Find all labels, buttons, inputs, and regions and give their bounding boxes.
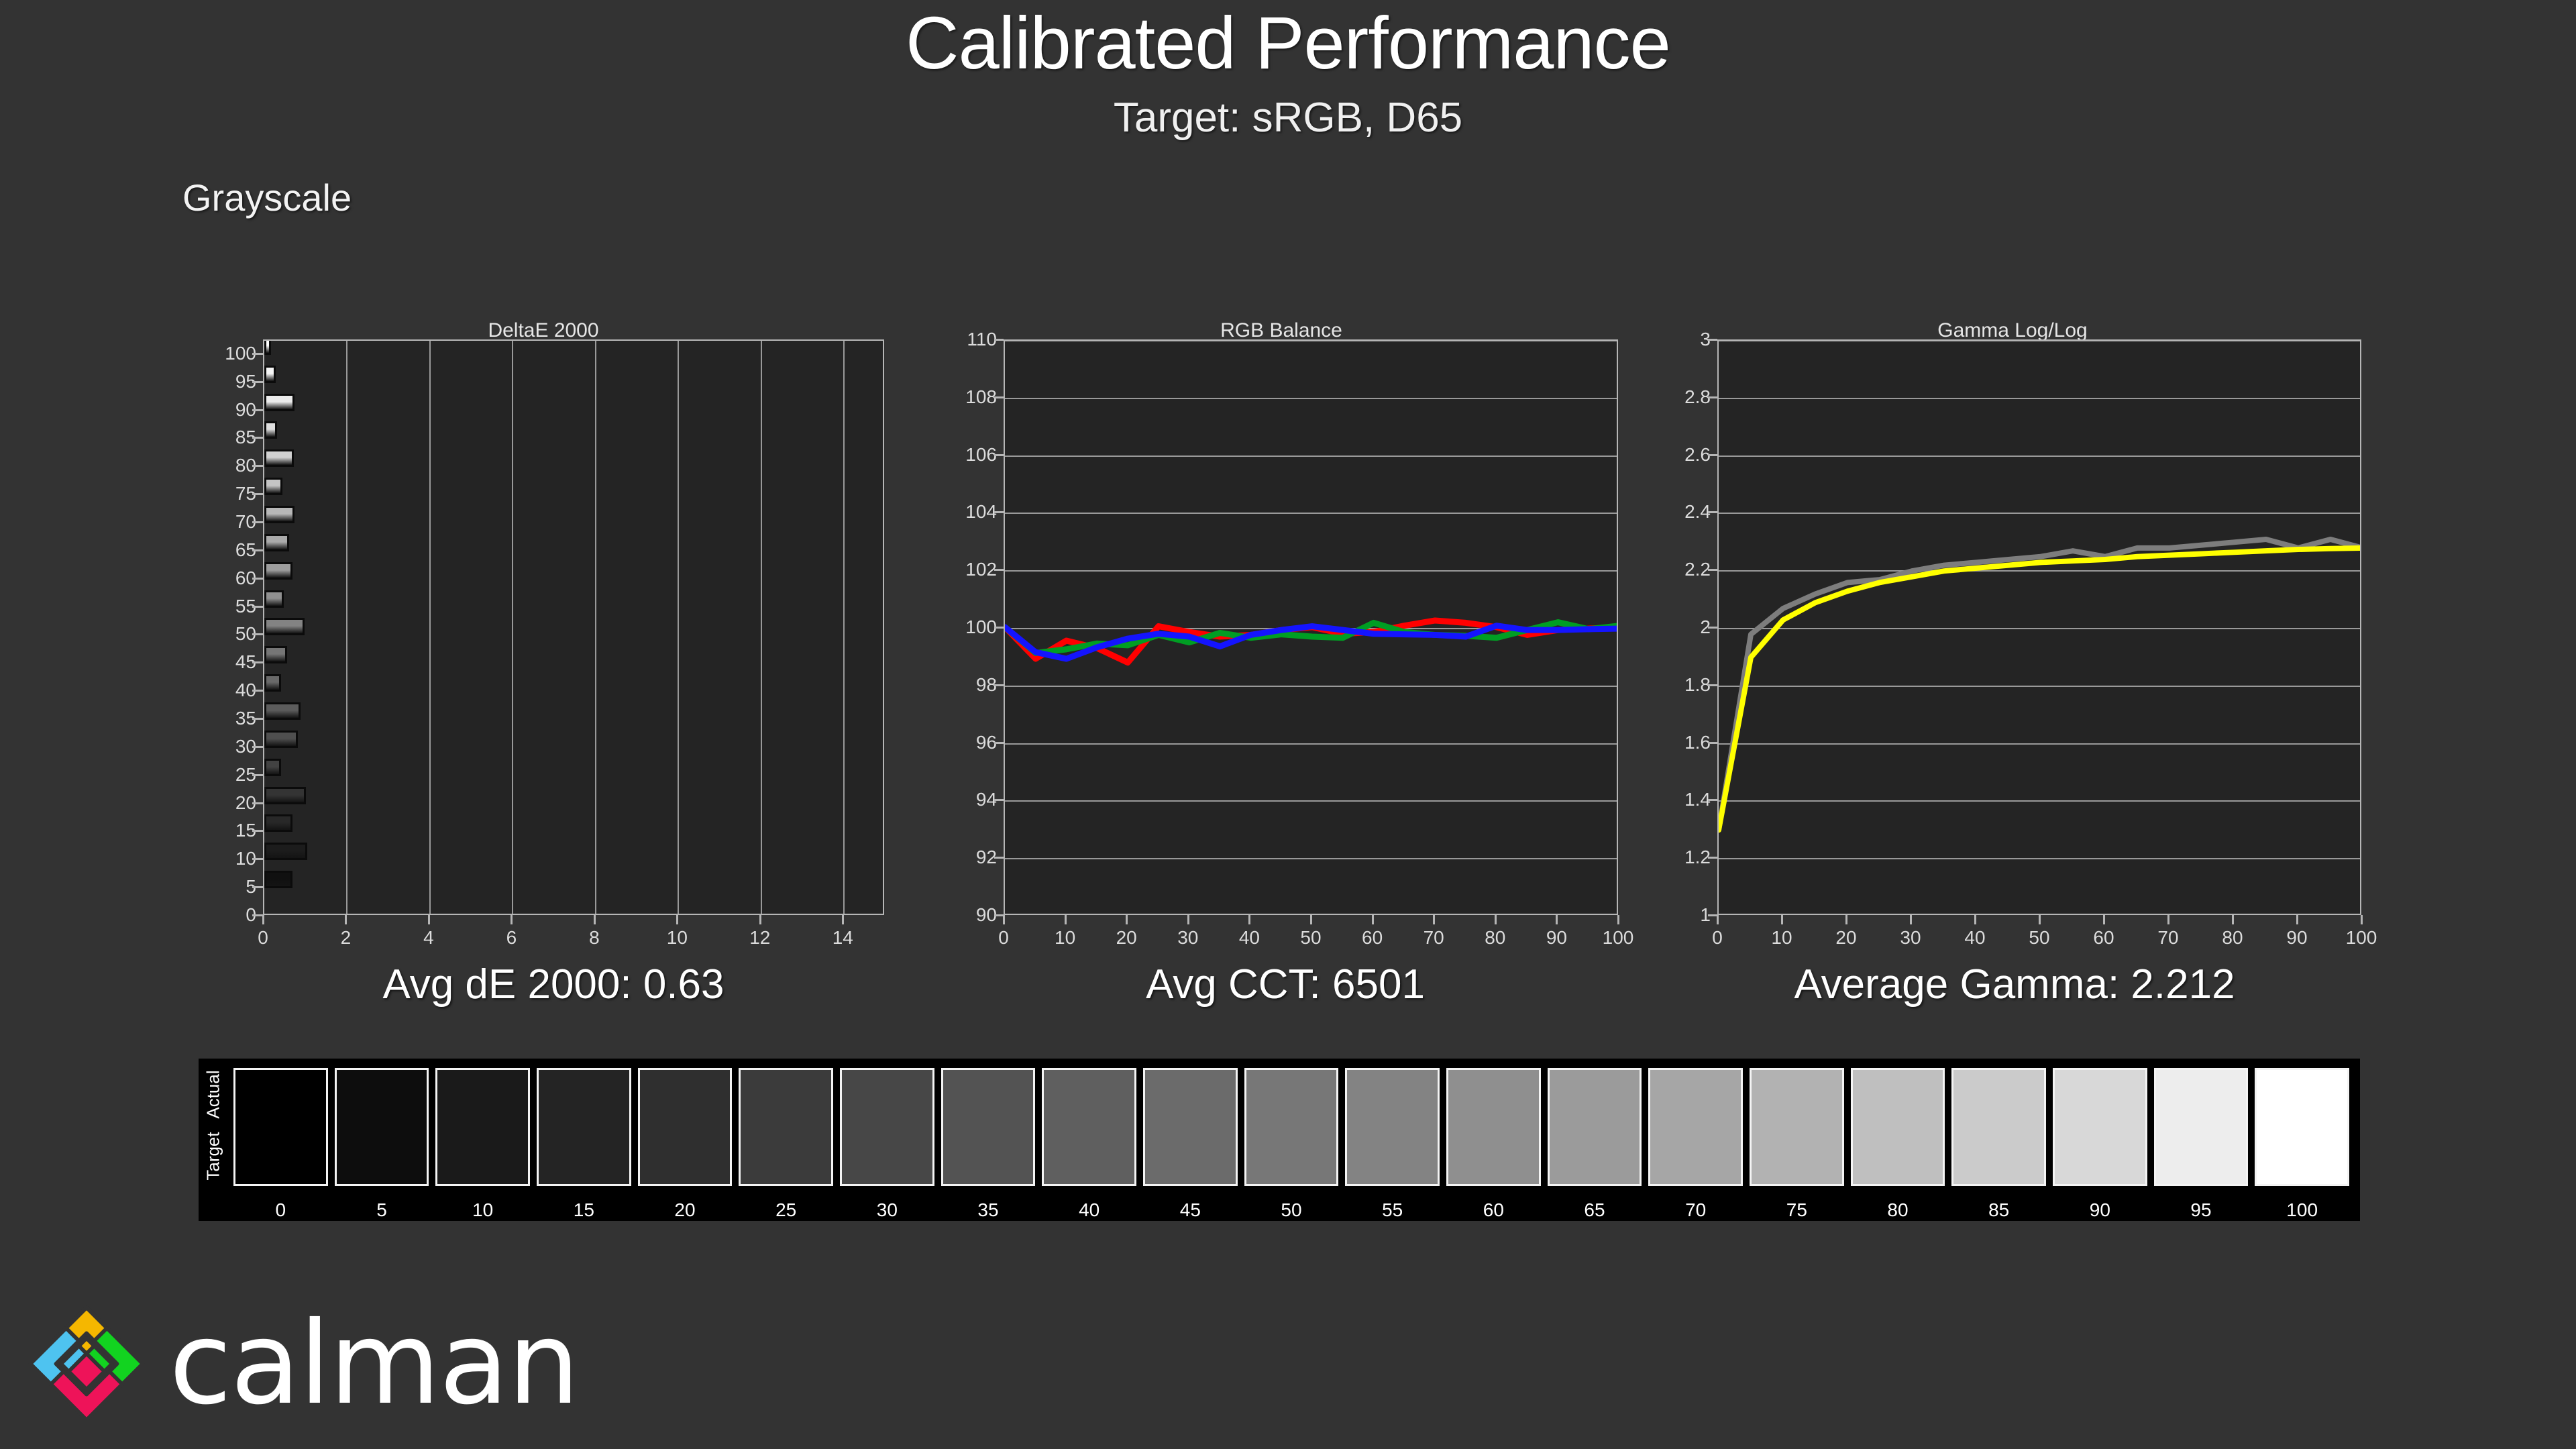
deltae-y-tick-label: 25 xyxy=(207,764,256,786)
deltae-bar xyxy=(264,478,282,495)
gamma-y-tick-label: 1.6 xyxy=(1662,732,1711,753)
swatch-target xyxy=(1448,1127,1539,1184)
rgb-x-tickmark xyxy=(1495,915,1497,924)
swatch-actual xyxy=(1650,1070,1741,1127)
swatch-label: 10 xyxy=(435,1199,530,1221)
calman-logo-mark xyxy=(23,1300,150,1428)
deltae-y-tick-label: 20 xyxy=(207,792,256,814)
gamma-y-tickmark xyxy=(1708,684,1717,686)
gamma-x-tick-label: 90 xyxy=(2286,927,2307,949)
deltae-y-tick-label: 55 xyxy=(207,596,256,617)
gridline-vertical xyxy=(595,341,596,914)
swatch-target xyxy=(235,1127,326,1184)
gamma-y-tick-label: 1.4 xyxy=(1662,789,1711,810)
gamma-y-tick-label: 2.4 xyxy=(1662,501,1711,523)
swatch-actual xyxy=(1044,1070,1134,1127)
deltae-bar xyxy=(264,534,289,551)
swatch-actual xyxy=(235,1070,326,1127)
strip-label-target: Target xyxy=(203,1123,224,1190)
swatch-label: 30 xyxy=(840,1199,934,1221)
rgb-x-tick-label: 60 xyxy=(1362,927,1383,949)
swatch-label: 75 xyxy=(1750,1199,1844,1221)
deltae-x-tickmark xyxy=(345,915,347,924)
deltae-y-tickmark xyxy=(252,493,263,495)
swatch-label: 90 xyxy=(2053,1199,2147,1221)
swatch-cell: 25 xyxy=(739,1068,833,1186)
deltae-bar xyxy=(264,814,292,832)
swatch-target xyxy=(539,1127,629,1184)
gamma-y-tickmark xyxy=(1708,339,1717,341)
deltae-x-tickmark xyxy=(676,915,678,924)
rgb-y-tick-label: 110 xyxy=(949,329,997,350)
rgb-x-tickmark xyxy=(1065,915,1067,924)
gamma-y-tick-label: 2.2 xyxy=(1662,559,1711,580)
rgb-x-tick-label: 90 xyxy=(1546,927,1567,949)
deltae-y-tickmark xyxy=(252,830,263,832)
gamma-x-tickmark xyxy=(1781,915,1783,924)
gamma-x-tickmark xyxy=(2039,915,2041,924)
swatch-cell: 95 xyxy=(2154,1068,2249,1186)
deltae-bar xyxy=(264,871,292,888)
gamma-y-tickmark xyxy=(1708,396,1717,398)
summary-row: Avg dE 2000: 0.63 Avg CCT: 6501 Average … xyxy=(0,961,2576,1021)
gamma-x-tickmark xyxy=(2103,915,2105,924)
rgb-x-tick-label: 0 xyxy=(998,927,1009,949)
gridline-vertical xyxy=(429,341,431,914)
swatch-cell: 40 xyxy=(1042,1068,1136,1186)
swatch-target xyxy=(1246,1127,1337,1184)
deltae-y-tick-label: 35 xyxy=(207,708,256,729)
swatch-target xyxy=(2257,1127,2347,1184)
swatch-target xyxy=(842,1127,932,1184)
gridline-vertical xyxy=(512,341,513,914)
swatch-label: 5 xyxy=(335,1199,429,1221)
rgb-x-tickmark xyxy=(1003,915,1005,924)
swatch-target xyxy=(1347,1127,1438,1184)
gridline-vertical xyxy=(843,341,845,914)
swatch-cell: 100 xyxy=(2255,1068,2349,1186)
deltae-x-tickmark xyxy=(594,915,596,924)
rgb-y-tickmark xyxy=(994,569,1004,571)
gamma-x-tick-label: 0 xyxy=(1712,927,1723,949)
swatch-target xyxy=(2055,1127,2145,1184)
deltae-y-tick-label: 70 xyxy=(207,511,256,533)
rgb-y-tickmark xyxy=(994,857,1004,859)
swatch-actual xyxy=(1550,1070,1640,1127)
deltae-x-tickmark xyxy=(428,915,430,924)
swatch-95 xyxy=(2154,1068,2249,1186)
rgb-y-tick-label: 104 xyxy=(949,501,997,523)
swatch-label: 20 xyxy=(638,1199,733,1221)
gamma-plot-area xyxy=(1717,339,2361,915)
swatch-target xyxy=(741,1127,831,1184)
rgb-y-tickmark xyxy=(994,914,1004,916)
gamma-x-tickmark xyxy=(2361,915,2363,924)
rgb-y-tick-label: 94 xyxy=(949,789,997,810)
swatch-actual xyxy=(539,1070,629,1127)
rgb-y-tick-label: 106 xyxy=(949,444,997,466)
deltae-y-tickmark xyxy=(252,886,263,888)
swatch-actual xyxy=(2156,1070,2247,1127)
deltae-y-tickmark xyxy=(252,465,263,467)
swatch-cell: 60 xyxy=(1446,1068,1541,1186)
deltae-bar xyxy=(264,787,306,804)
deltae-x-tick-label: 14 xyxy=(833,927,853,949)
deltae-y-tick-label: 80 xyxy=(207,455,256,476)
swatch-actual xyxy=(2257,1070,2347,1127)
gamma-y-tickmark xyxy=(1708,799,1717,801)
swatch-70 xyxy=(1648,1068,1743,1186)
deltae-plot-area xyxy=(263,339,884,915)
swatch-target xyxy=(1044,1127,1134,1184)
deltae-x-tickmark xyxy=(759,915,761,924)
deltae-y-tick-label: 10 xyxy=(207,848,256,869)
calman-wordmark: calman xyxy=(169,1307,578,1421)
swatch-cell: 65 xyxy=(1548,1068,1642,1186)
swatch-cell: 80 xyxy=(1851,1068,1945,1186)
swatch-5 xyxy=(335,1068,429,1186)
swatch-40 xyxy=(1042,1068,1136,1186)
rgb-y-tickmark xyxy=(994,627,1004,629)
swatch-target xyxy=(1953,1127,2044,1184)
swatch-cell: 85 xyxy=(1951,1068,2046,1186)
rgb-y-tickmark xyxy=(994,742,1004,744)
swatch-30 xyxy=(840,1068,934,1186)
rgb-x-tick-label: 80 xyxy=(1485,927,1505,949)
deltae-y-tick-label: 60 xyxy=(207,568,256,589)
swatch-target xyxy=(640,1127,731,1184)
swatch-label: 80 xyxy=(1851,1199,1945,1221)
gamma-x-tick-label: 50 xyxy=(2029,927,2049,949)
swatch-cell: 5 xyxy=(335,1068,429,1186)
deltae-bar xyxy=(264,506,294,523)
series-line-measured xyxy=(1719,539,2361,830)
swatch-15 xyxy=(537,1068,631,1186)
rgb-y-tick-label: 108 xyxy=(949,386,997,408)
swatch-actual xyxy=(1246,1070,1337,1127)
rgb-y-tickmark xyxy=(994,454,1004,456)
chart-panel-gamma: Gamma Log/Log11.21.41.61.822.22.42.62.83… xyxy=(1657,315,2368,959)
rgb-y-tickmark xyxy=(994,799,1004,801)
deltae-y-tick-label: 15 xyxy=(207,820,256,841)
rgb-x-tickmark xyxy=(1187,915,1189,924)
rgb-balance-curves xyxy=(1005,341,1618,915)
rgb-y-tick-label: 98 xyxy=(949,674,997,696)
swatch-actual xyxy=(1953,1070,2044,1127)
chart-title: DeltaE 2000 xyxy=(201,319,885,342)
gamma-y-tick-label: 2.6 xyxy=(1662,444,1711,466)
gamma-y-tickmark xyxy=(1708,511,1717,513)
swatch-50 xyxy=(1244,1068,1339,1186)
series-line-target xyxy=(1719,548,2361,830)
swatch-actual xyxy=(437,1070,528,1127)
deltae-bar xyxy=(264,421,277,439)
deltae-bar xyxy=(264,759,281,776)
charts-row: DeltaE 200005101520253035404550556065707… xyxy=(0,315,2576,959)
swatch-label: 70 xyxy=(1648,1199,1743,1221)
swatch-cell: 45 xyxy=(1143,1068,1238,1186)
gamma-y-tickmark xyxy=(1708,569,1717,571)
rgb-x-tick-label: 100 xyxy=(1603,927,1634,949)
swatch-80 xyxy=(1851,1068,1945,1186)
swatch-cell: 20 xyxy=(638,1068,733,1186)
summary-avg-cct: Avg CCT: 6501 xyxy=(1146,961,1425,1008)
page-subtitle: Target: sRGB, D65 xyxy=(0,95,2576,141)
deltae-x-tickmark xyxy=(262,915,264,924)
deltae-x-tick-label: 2 xyxy=(341,927,352,949)
swatch-actual xyxy=(1752,1070,1842,1127)
deltae-x-tickmark xyxy=(842,915,844,924)
swatch-cell: 0 xyxy=(233,1068,328,1186)
summary-avg-de: Avg dE 2000: 0.63 xyxy=(382,961,724,1008)
deltae-bar xyxy=(264,843,307,860)
swatch-cell: 55 xyxy=(1345,1068,1440,1186)
deltae-x-tick-label: 10 xyxy=(667,927,688,949)
swatch-actual xyxy=(842,1070,932,1127)
swatch-label: 25 xyxy=(739,1199,833,1221)
gamma-x-tickmark xyxy=(2167,915,2169,924)
swatch-actual xyxy=(1448,1070,1539,1127)
rgb-y-tickmark xyxy=(994,684,1004,686)
swatch-target xyxy=(1145,1127,1236,1184)
gridline-vertical xyxy=(678,341,679,914)
deltae-y-tick-label: 50 xyxy=(207,623,256,645)
deltae-x-tickmark xyxy=(511,915,513,924)
deltae-y-tickmark xyxy=(252,746,263,748)
rgb-x-tickmark xyxy=(1248,915,1250,924)
swatch-65 xyxy=(1548,1068,1642,1186)
swatch-actual xyxy=(337,1070,427,1127)
rgb-y-tick-label: 96 xyxy=(949,732,997,753)
gamma-x-tick-label: 20 xyxy=(1835,927,1856,949)
deltae-y-tickmark xyxy=(252,381,263,383)
gamma-x-tickmark xyxy=(1910,915,1912,924)
swatch-25 xyxy=(739,1068,833,1186)
swatch-target xyxy=(1752,1127,1842,1184)
gamma-y-tick-label: 3 xyxy=(1662,329,1711,350)
swatch-actual xyxy=(2055,1070,2145,1127)
swatch-actual xyxy=(741,1070,831,1127)
deltae-y-tickmark xyxy=(252,409,263,411)
rgb-x-tick-label: 20 xyxy=(1116,927,1137,949)
deltae-x-tick-label: 6 xyxy=(506,927,517,949)
gamma-x-tickmark xyxy=(1974,915,1976,924)
deltae-y-tickmark xyxy=(252,802,263,804)
swatch-target xyxy=(943,1127,1034,1184)
rgb-x-tick-label: 50 xyxy=(1300,927,1321,949)
rgb-y-tick-label: 102 xyxy=(949,559,997,580)
gridline-vertical xyxy=(761,341,762,914)
swatch-55 xyxy=(1345,1068,1440,1186)
gamma-y-tick-label: 1.8 xyxy=(1662,674,1711,696)
deltae-y-tick-label: 30 xyxy=(207,736,256,757)
deltae-bar xyxy=(264,731,298,748)
deltae-y-tick-label: 0 xyxy=(207,904,256,926)
swatch-label: 60 xyxy=(1446,1199,1541,1221)
swatch-label: 95 xyxy=(2154,1199,2249,1221)
swatch-90 xyxy=(2053,1068,2147,1186)
deltae-y-tickmark xyxy=(252,549,263,551)
swatch-label: 100 xyxy=(2255,1199,2349,1221)
swatch-label: 0 xyxy=(233,1199,328,1221)
gamma-curves xyxy=(1719,341,2361,915)
rgb-y-tickmark xyxy=(994,339,1004,341)
deltae-y-tickmark xyxy=(252,774,263,776)
deltae-y-tick-label: 85 xyxy=(207,427,256,448)
deltae-y-tick-label: 65 xyxy=(207,539,256,561)
swatch-target xyxy=(2156,1127,2247,1184)
strip-label-actual: Actual xyxy=(203,1061,224,1128)
deltae-y-tick-label: 90 xyxy=(207,399,256,421)
chart-panel-rgb: RGB Balance90929496981001021041061081100… xyxy=(939,315,1623,959)
gamma-x-tick-label: 100 xyxy=(2346,927,2377,949)
rgb-x-tick-label: 30 xyxy=(1177,927,1198,949)
gamma-x-tick-label: 10 xyxy=(1771,927,1792,949)
swatch-cell: 90 xyxy=(2053,1068,2147,1186)
section-label-grayscale: Grayscale xyxy=(182,176,352,219)
swatch-label: 45 xyxy=(1143,1199,1238,1221)
rgb-balance-plot-area xyxy=(1004,339,1618,915)
deltae-bar xyxy=(264,339,271,355)
swatch-0 xyxy=(233,1068,328,1186)
rgb-y-tick-label: 92 xyxy=(949,847,997,868)
swatch-45 xyxy=(1143,1068,1238,1186)
deltae-bar xyxy=(264,590,284,608)
chart-title: RGB Balance xyxy=(939,319,1623,342)
swatch-label: 15 xyxy=(537,1199,631,1221)
gamma-y-tickmark xyxy=(1708,454,1717,456)
swatch-cell: 30 xyxy=(840,1068,934,1186)
swatch-10 xyxy=(435,1068,530,1186)
swatch-20 xyxy=(638,1068,733,1186)
rgb-y-tick-label: 90 xyxy=(949,904,997,926)
rgb-x-tick-label: 70 xyxy=(1424,927,1444,949)
swatch-60 xyxy=(1446,1068,1541,1186)
summary-avg-gamma: Average Gamma: 2.212 xyxy=(1794,961,2235,1008)
gamma-x-tick-label: 70 xyxy=(2157,927,2178,949)
deltae-bar xyxy=(264,562,292,580)
deltae-y-tickmark xyxy=(252,437,263,439)
deltae-y-tick-label: 95 xyxy=(207,371,256,392)
swatch-target xyxy=(1650,1127,1741,1184)
rgb-x-tickmark xyxy=(1433,915,1435,924)
deltae-y-tick-label: 100 xyxy=(207,343,256,364)
swatch-cell: 50 xyxy=(1244,1068,1339,1186)
chart-title: Gamma Log/Log xyxy=(1657,319,2368,342)
gamma-x-tickmark xyxy=(2232,915,2234,924)
gamma-y-tick-label: 1.2 xyxy=(1662,847,1711,868)
deltae-y-tick-label: 45 xyxy=(207,651,256,673)
swatch-target xyxy=(1550,1127,1640,1184)
swatch-label: 85 xyxy=(1951,1199,2046,1221)
gamma-x-tickmark xyxy=(1845,915,1847,924)
gamma-y-tickmark xyxy=(1708,742,1717,744)
rgb-x-tickmark xyxy=(1372,915,1374,924)
gamma-x-tick-label: 30 xyxy=(1900,927,1921,949)
rgb-x-tick-label: 40 xyxy=(1239,927,1260,949)
deltae-y-tickmark xyxy=(252,606,263,608)
rgb-y-tick-label: 100 xyxy=(949,616,997,638)
deltae-y-tickmark xyxy=(252,633,263,635)
deltae-bar xyxy=(264,449,294,467)
deltae-bar xyxy=(264,646,287,663)
deltae-y-tickmark xyxy=(252,661,263,663)
gamma-y-tickmark xyxy=(1708,627,1717,629)
rgb-y-tickmark xyxy=(994,396,1004,398)
gamma-x-tickmark xyxy=(1717,915,1719,924)
deltae-y-tickmark xyxy=(252,521,263,523)
rgb-x-tickmark xyxy=(1126,915,1128,924)
swatch-actual xyxy=(943,1070,1034,1127)
diamond-chevron-icon xyxy=(23,1300,150,1428)
swatch-cell: 75 xyxy=(1750,1068,1844,1186)
deltae-bar xyxy=(264,702,301,720)
deltae-y-tick-label: 40 xyxy=(207,680,256,701)
gamma-y-tick-label: 1 xyxy=(1662,904,1711,926)
swatch-actual xyxy=(1853,1070,1943,1127)
deltae-bar xyxy=(264,394,294,411)
deltae-x-tick-label: 4 xyxy=(423,927,434,949)
swatch-cell: 35 xyxy=(941,1068,1036,1186)
swatch-label: 55 xyxy=(1345,1199,1440,1221)
swatch-cell: 70 xyxy=(1648,1068,1743,1186)
swatch-actual xyxy=(640,1070,731,1127)
chart-panel-deltae: DeltaE 200005101520253035404550556065707… xyxy=(201,315,885,959)
deltae-y-tickmark xyxy=(252,858,263,860)
rgb-x-tickmark xyxy=(1556,915,1558,924)
swatch-cell: 10 xyxy=(435,1068,530,1186)
swatch-85 xyxy=(1951,1068,2046,1186)
deltae-x-tick-label: 8 xyxy=(589,927,600,949)
page-header: Calibrated Performance Target: sRGB, D65 xyxy=(0,0,2576,141)
swatch-actual xyxy=(1145,1070,1236,1127)
swatch-target xyxy=(1853,1127,1943,1184)
gamma-y-tick-label: 2 xyxy=(1662,616,1711,638)
rgb-x-tickmark xyxy=(1617,915,1619,924)
gamma-x-tick-label: 60 xyxy=(2093,927,2114,949)
deltae-y-tick-label: 5 xyxy=(207,876,256,898)
swatch-75 xyxy=(1750,1068,1844,1186)
swatch-target xyxy=(337,1127,427,1184)
deltae-y-tickmark xyxy=(252,353,263,355)
swatch-label: 35 xyxy=(941,1199,1036,1221)
rgb-x-tickmark xyxy=(1310,915,1312,924)
deltae-bar xyxy=(264,674,281,692)
swatch-label: 40 xyxy=(1042,1199,1136,1221)
deltae-x-tick-label: 12 xyxy=(749,927,770,949)
gamma-x-tickmark xyxy=(2296,915,2298,924)
deltae-y-tickmark xyxy=(252,914,263,916)
swatch-100 xyxy=(2255,1068,2349,1186)
swatch-label: 50 xyxy=(1244,1199,1339,1221)
deltae-x-tick-label: 0 xyxy=(258,927,268,949)
page-title: Calibrated Performance xyxy=(0,7,2576,80)
swatch-target xyxy=(437,1127,528,1184)
deltae-bar xyxy=(264,366,276,383)
gamma-x-tick-label: 40 xyxy=(1964,927,1985,949)
swatch-35 xyxy=(941,1068,1036,1186)
deltae-y-tickmark xyxy=(252,690,263,692)
strip-axis-labels: Actual Target xyxy=(203,1065,231,1199)
gamma-y-tickmark xyxy=(1708,857,1717,859)
deltae-y-tickmark xyxy=(252,718,263,720)
rgb-x-tick-label: 10 xyxy=(1055,927,1075,949)
swatch-actual xyxy=(1347,1070,1438,1127)
rgb-y-tickmark xyxy=(994,511,1004,513)
gridline-vertical xyxy=(346,341,347,914)
deltae-y-tickmark xyxy=(252,578,263,580)
swatch-cell: 15 xyxy=(537,1068,631,1186)
